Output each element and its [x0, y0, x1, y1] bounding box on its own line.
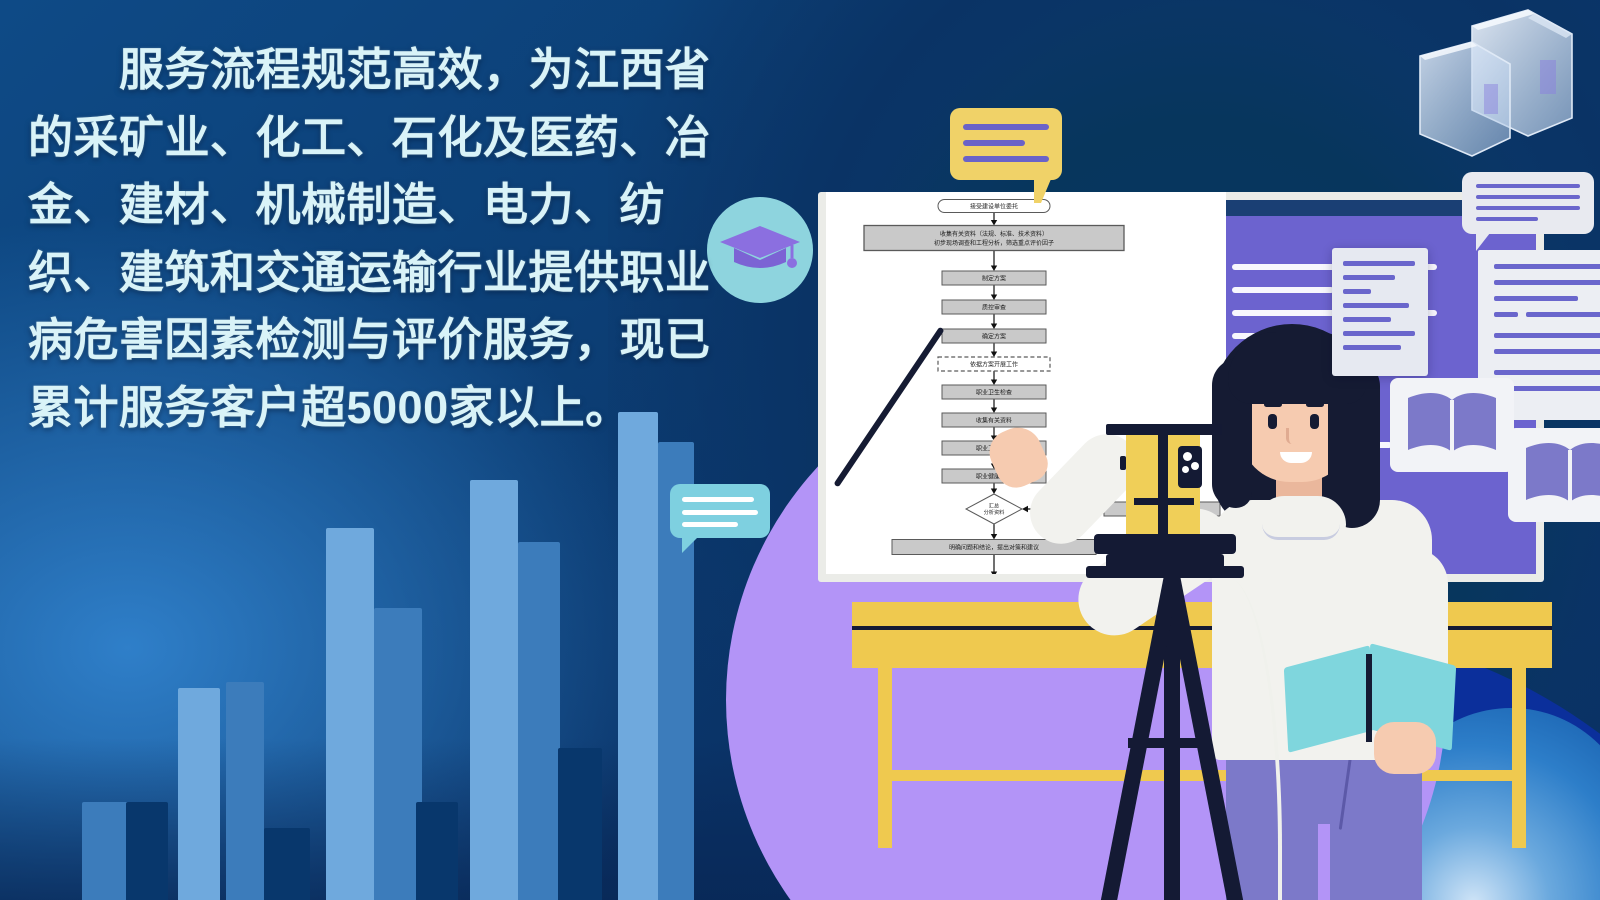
tripod-head-plate-3 [1086, 566, 1244, 578]
page-title: 服务流程规范高效，为江西省的采矿业、化工、石化及医药、冶金、建材、机械制造、电力… [28, 36, 758, 441]
eyebrow-right [1306, 402, 1324, 407]
instrument-dot-3 [1182, 466, 1189, 473]
headline-line: 累计服务客户超5000家以上。 [28, 374, 758, 442]
measuring-instrument-tripod [1072, 408, 1272, 900]
chart-bar [178, 688, 220, 900]
svg-text:依据方案开展工作: 依据方案开展工作 [970, 360, 1018, 368]
open-book-icon [1390, 378, 1514, 472]
headline-line: 织、建筑和交通运输行业提供职业 [28, 239, 758, 307]
chart-bar [264, 828, 310, 900]
chart-bar [416, 802, 458, 900]
chart-bar [226, 682, 264, 900]
open-book-glyph [1400, 388, 1504, 462]
eye-right [1310, 414, 1319, 429]
books-stack-icon [1376, 6, 1594, 174]
svg-text:明确问题和结论，提出对策和建议: 明确问题和结论，提出对策和建议 [949, 543, 1039, 551]
headline-line: 病危害因素检测与评价服务，现已 [28, 306, 758, 374]
decorative-bar-chart [30, 480, 750, 900]
speech-bubble-grey-icon [1462, 172, 1594, 234]
chart-bar [126, 802, 168, 900]
eyebrow-left [1264, 402, 1282, 407]
svg-text:收集有关资料（法规、标准、技术资料）: 收集有关资料（法规、标准、技术资料） [940, 230, 1048, 238]
collar-fold [1262, 524, 1340, 540]
trouser-gap [1318, 824, 1330, 900]
svg-text:收集有关资料: 收集有关资料 [976, 416, 1012, 424]
svg-text:接受建设单位委托: 接受建设单位委托 [970, 202, 1018, 210]
chart-bar [470, 480, 518, 900]
chart-bar [374, 608, 422, 900]
instrument-dot-2 [1191, 462, 1199, 470]
instrument-dot-1 [1183, 452, 1192, 461]
headline-line: 的采矿业、化工、石化及医药、冶 [28, 104, 758, 172]
svg-text:制定方案: 制定方案 [982, 274, 1006, 282]
instrument-stem [1158, 424, 1168, 536]
headline-line: 服务流程规范高效，为江西省 [28, 36, 758, 104]
svg-text:确定方案: 确定方案 [982, 332, 1006, 340]
chart-bar [518, 542, 560, 900]
instrument-knob [1120, 456, 1126, 470]
desk-leg-left [878, 668, 892, 848]
speech-bubble-cyan-icon [670, 484, 770, 538]
svg-text:质控审查: 质控审查 [982, 303, 1006, 311]
headline-line: 金、建材、机械制造、电力、纺 [28, 171, 758, 239]
hand-right [1374, 722, 1436, 774]
tripod-head-plate-1 [1094, 534, 1236, 554]
desk-leg-right [1512, 668, 1526, 848]
svg-text:汇总: 汇总 [989, 502, 999, 510]
speech-bubble-yellow-icon [950, 108, 1062, 180]
svg-text:职业卫生检查: 职业卫生检查 [976, 388, 1012, 396]
chart-bar [326, 528, 374, 900]
board-open-book-icon [1508, 428, 1600, 522]
held-book-spine [1366, 654, 1372, 742]
document-icon [1332, 248, 1428, 376]
instrument-cable [1192, 578, 1282, 900]
nose [1286, 428, 1292, 444]
chart-bar [618, 412, 658, 900]
poster-canvas: 服务流程规范高效，为江西省的采矿业、化工、石化及医药、冶金、建材、机械制造、电力… [0, 0, 1600, 900]
classroom-illustration: 接受建设单位委托收集有关资料（法规、标准、技术资料）初步现场调查和工程分析，筛选… [700, 150, 1600, 900]
chart-bar [558, 748, 602, 900]
instrument-mini-bar [1134, 498, 1194, 505]
svg-text:分析资料: 分析资料 [984, 508, 1005, 516]
svg-text:初步现场调查和工程分析，筛选重点评价因子: 初步现场调查和工程分析，筛选重点评价因子 [934, 239, 1054, 247]
